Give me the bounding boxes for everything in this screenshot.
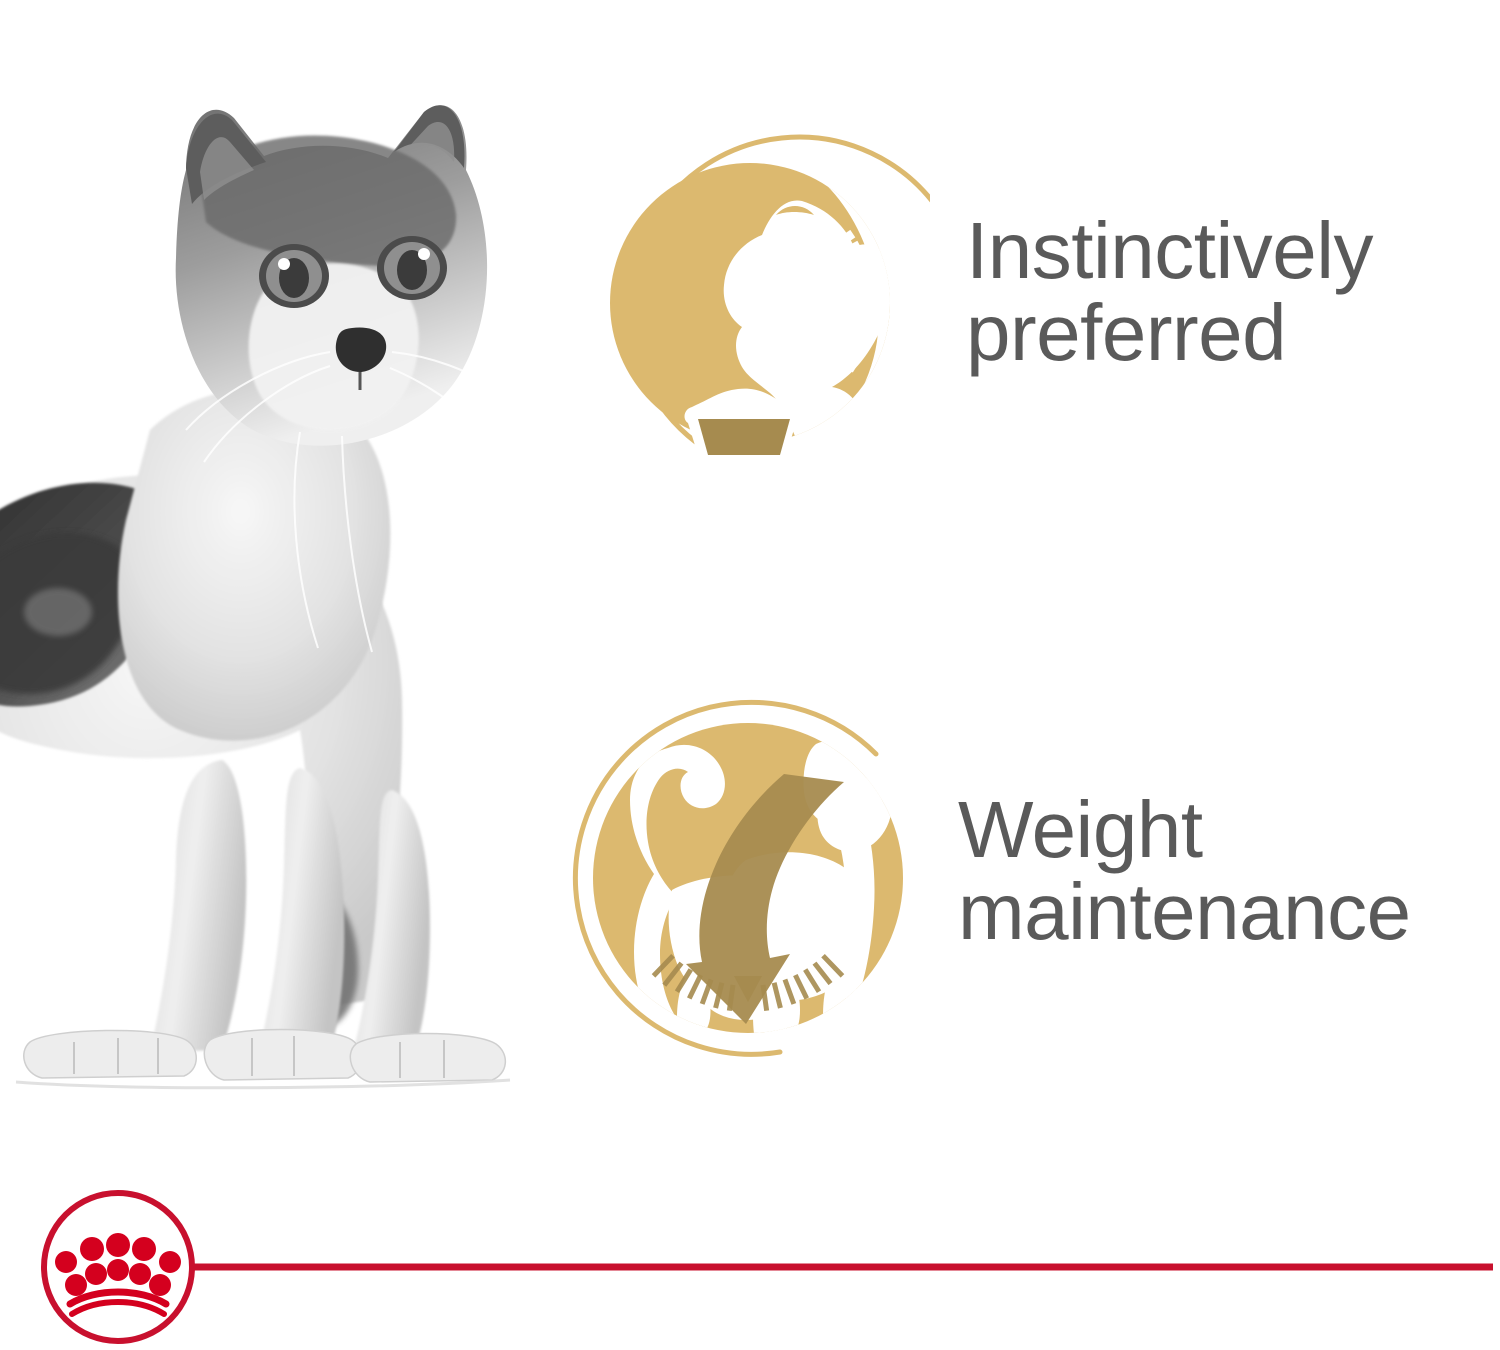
product-feature-panel: Instinctively preferred (0, 0, 1500, 1349)
feature-label-instinctively-preferred: Instinctively preferred (966, 210, 1373, 373)
feature-label-weight-maintenance: Weight maintenance (958, 789, 1411, 952)
cat-photograph (0, 0, 520, 1110)
feature-instinctively-preferred: Instinctively preferred (570, 105, 1373, 485)
cat-eating-from-bowl-gauge-icon (570, 105, 930, 485)
two-cats-weight-scale-arrow-icon (548, 678, 908, 1058)
brand-footer (0, 1190, 1500, 1350)
feature-weight-maintenance: Weight maintenance (548, 678, 1411, 1058)
